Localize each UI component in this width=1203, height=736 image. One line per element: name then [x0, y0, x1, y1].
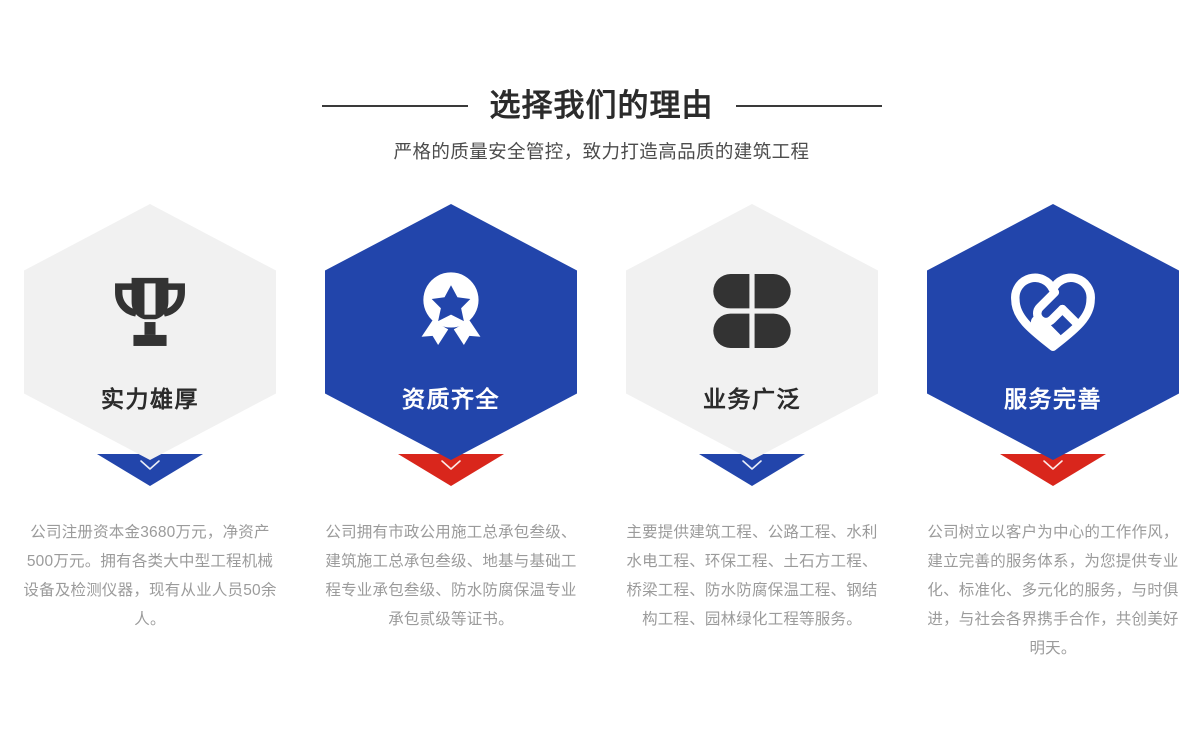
feature-card-list: 实力雄厚 — [0, 196, 1203, 488]
hexagon-badge: 业务广泛 — [626, 204, 878, 460]
hexagon-wrapper: 服务完善 — [924, 196, 1182, 488]
hexagon-badge: 服务完善 — [927, 204, 1179, 460]
handshake-heart-icon — [1006, 264, 1100, 358]
hexagon-wrapper: 资质齐全 — [322, 196, 580, 488]
feature-card-qualification[interactable]: 资质齐全 — [305, 196, 597, 488]
page-title: 选择我们的理由 — [490, 84, 714, 128]
feature-description-list: 公司注册资本金3680万元，净资产500万元。拥有各类大中型工程机械设备及检测仪… — [0, 518, 1203, 663]
hexagon-wrapper: 业务广泛 — [623, 196, 881, 488]
card-description: 公司注册资本金3680万元，净资产500万元。拥有各类大中型工程机械设备及检测仪… — [4, 518, 296, 663]
icon-slot — [997, 261, 1109, 361]
four-petal-clover-icon — [709, 268, 795, 354]
chevron-down-icon — [1042, 459, 1064, 471]
title-rule-right — [736, 105, 882, 107]
card-description: 公司拥有市政公用施工总承包叁级、建筑施工总承包叁级、地基与基础工程专业承包叁级、… — [305, 518, 597, 663]
card-title: 实力雄厚 — [101, 380, 199, 414]
chevron-down-icon — [139, 459, 161, 471]
feature-card-business[interactable]: 业务广泛 — [606, 196, 898, 488]
card-title: 服务完善 — [1004, 380, 1102, 414]
chevron-down-icon — [440, 459, 462, 471]
title-row: 选择我们的理由 — [0, 84, 1203, 128]
icon-slot — [395, 261, 507, 361]
trophy-icon — [104, 265, 196, 357]
section-subtitle: 严格的质量安全管控，致力打造高品质的建筑工程 — [0, 138, 1203, 164]
card-title: 业务广泛 — [703, 380, 801, 414]
chevron-down-icon — [741, 459, 763, 471]
hexagon-wrapper: 实力雄厚 — [21, 196, 279, 488]
card-description: 主要提供建筑工程、公路工程、水利水电工程、环保工程、土石方工程、桥梁工程、防水防… — [606, 518, 898, 663]
title-rule-left — [322, 105, 468, 107]
icon-slot — [94, 261, 206, 361]
card-title: 资质齐全 — [402, 380, 500, 414]
feature-card-strength[interactable]: 实力雄厚 — [4, 196, 296, 488]
hexagon-badge: 实力雄厚 — [24, 204, 276, 460]
section-heading: 选择我们的理由 严格的质量安全管控，致力打造高品质的建筑工程 — [0, 84, 1203, 164]
card-description: 公司树立以客户为中心的工作作风，建立完善的服务体系，为您提供专业化、标准化、多元… — [907, 518, 1199, 663]
icon-slot — [696, 261, 808, 361]
feature-card-service[interactable]: 服务完善 — [907, 196, 1199, 488]
hexagon-badge: 资质齐全 — [325, 204, 577, 460]
award-medal-icon — [405, 265, 497, 357]
